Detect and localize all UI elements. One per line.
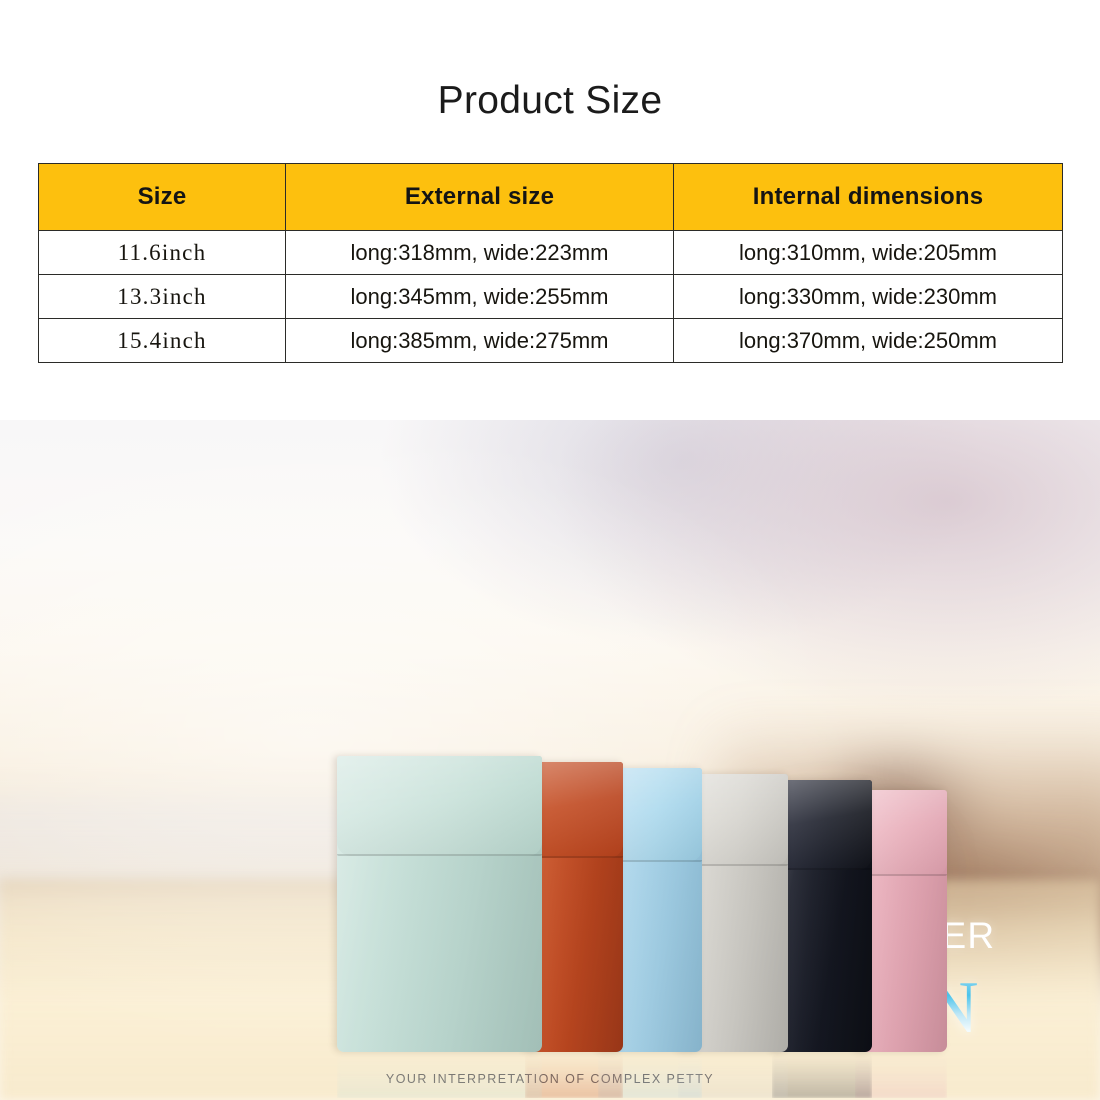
product-sleeve-group bbox=[0, 420, 1100, 1100]
cell-external: long:318mm, wide:223mm bbox=[286, 231, 674, 275]
product-lifestyle-photo: F ASHIONABLE JOKER FASHION YOUR INTERPRE… bbox=[0, 420, 1100, 1100]
table-row: 11.6inch long:318mm, wide:223mm long:310… bbox=[39, 231, 1063, 275]
sleeve-mint bbox=[337, 756, 542, 1052]
column-header-size: Size bbox=[39, 164, 286, 231]
product-size-table: Size External size Internal dimensions 1… bbox=[38, 163, 1063, 363]
cell-internal: long:330mm, wide:230mm bbox=[674, 275, 1063, 319]
sleeve-reflection bbox=[337, 1052, 542, 1098]
sleeve-flap-sheen bbox=[337, 756, 542, 856]
cell-size: 15.4inch bbox=[39, 319, 286, 363]
table-header-row: Size External size Internal dimensions bbox=[39, 164, 1063, 231]
sleeve-flap-edge bbox=[337, 854, 542, 856]
table-row: 15.4inch long:385mm, wide:275mm long:370… bbox=[39, 319, 1063, 363]
cell-internal: long:310mm, wide:205mm bbox=[674, 231, 1063, 275]
cell-external: long:385mm, wide:275mm bbox=[286, 319, 674, 363]
page-title: Product Size bbox=[0, 78, 1100, 124]
cell-external: long:345mm, wide:255mm bbox=[286, 275, 674, 319]
sleeve-flap bbox=[337, 756, 542, 856]
product-size-section: Product Size Size External size Internal… bbox=[0, 0, 1100, 420]
column-header-external: External size bbox=[286, 164, 674, 231]
cell-internal: long:370mm, wide:250mm bbox=[674, 319, 1063, 363]
column-header-internal: Internal dimensions bbox=[674, 164, 1063, 231]
cell-size: 11.6inch bbox=[39, 231, 286, 275]
table-row: 13.3inch long:345mm, wide:255mm long:330… bbox=[39, 275, 1063, 319]
cell-size: 13.3inch bbox=[39, 275, 286, 319]
